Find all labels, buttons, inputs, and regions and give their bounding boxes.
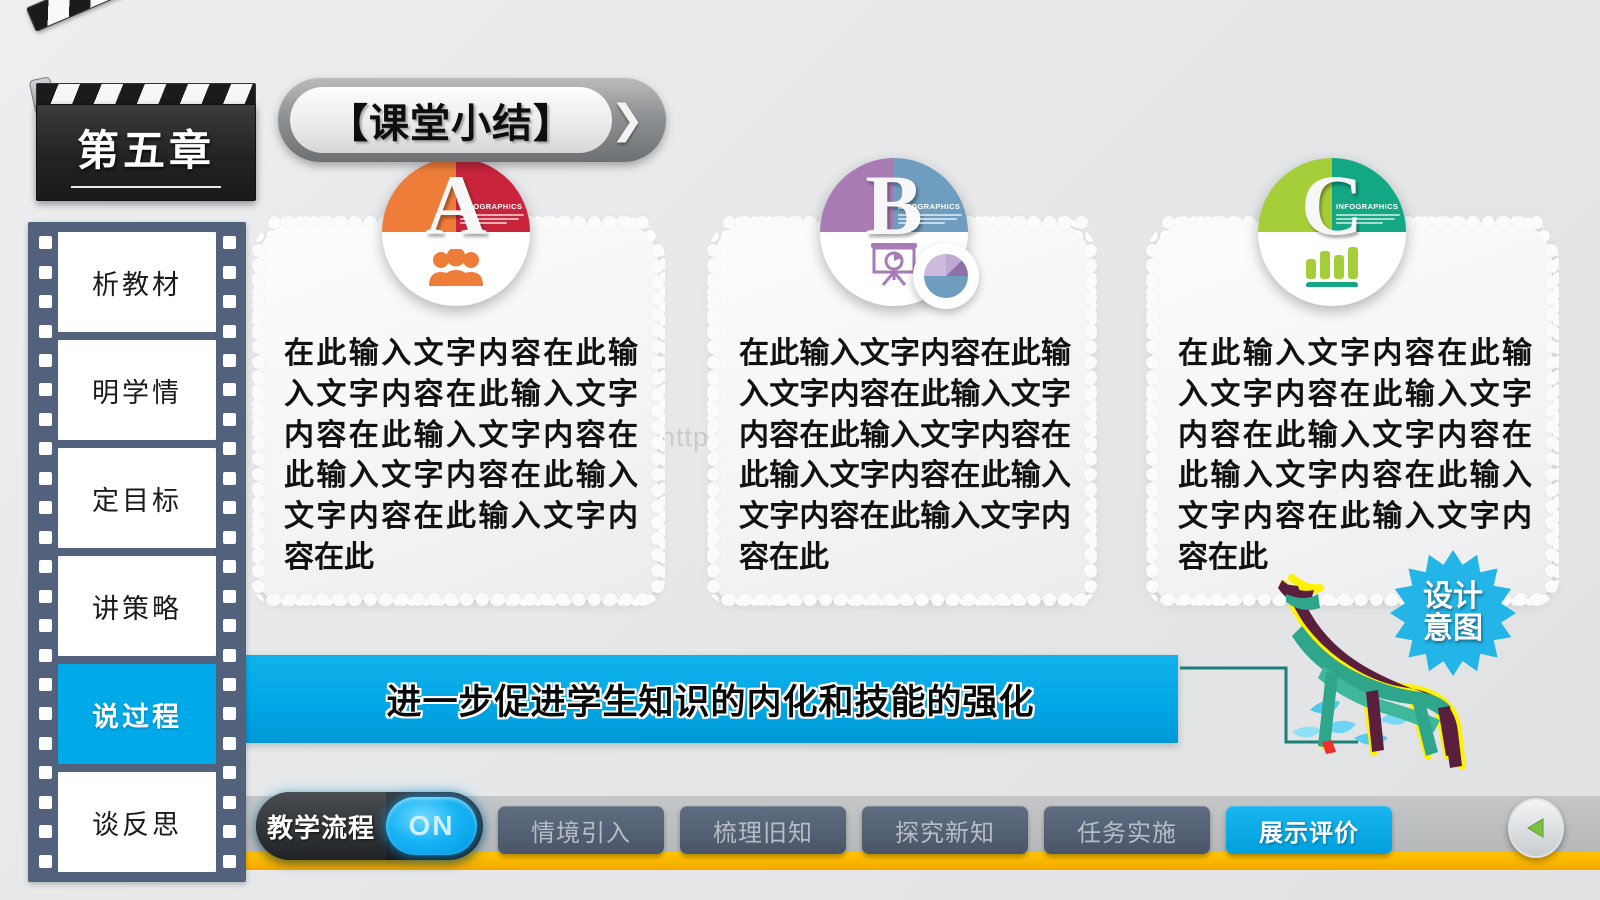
film-perforation xyxy=(39,590,52,603)
film-perforation xyxy=(39,472,52,485)
film-perforation xyxy=(223,766,236,779)
sidebar-item-1[interactable]: 析教材 xyxy=(58,232,216,332)
film-perforation xyxy=(223,295,236,308)
page-title: 【课堂小结】 xyxy=(328,91,574,149)
micro-text-lines xyxy=(1336,214,1400,224)
prev-button[interactable] xyxy=(1508,798,1564,858)
header-inner-pill: 【课堂小结】 xyxy=(290,87,612,153)
sidebar-item-6[interactable]: 谈反思 xyxy=(58,772,216,872)
pie-chart-icon xyxy=(921,251,971,301)
film-perforation xyxy=(39,266,52,279)
film-perforation xyxy=(223,619,236,632)
teaching-flow-state[interactable]: ON xyxy=(386,797,477,855)
flow-tab-3[interactable]: 探究新知 xyxy=(862,806,1028,854)
film-perforation xyxy=(223,678,236,691)
bar-chart-icon xyxy=(1258,243,1406,292)
film-perforation xyxy=(39,766,52,779)
micro-text-lines xyxy=(460,214,524,224)
film-perforation xyxy=(223,737,236,750)
film-perforation xyxy=(39,354,52,367)
chapter-title: 第五章 xyxy=(77,117,215,178)
card-body-text: 在此输入文字内容在此输入文字内容在此输入文字内容在此输入文字内容在此输入文字内容… xyxy=(1178,334,1532,579)
film-perforation xyxy=(223,383,236,396)
film-perforation xyxy=(39,707,52,720)
micro-text-lines xyxy=(898,214,962,224)
infographic-circle-a: AINFOGRAPHICS xyxy=(382,158,530,306)
clapperboard-arm xyxy=(26,0,237,32)
film-perforation xyxy=(39,325,52,338)
film-perforation xyxy=(223,354,236,367)
filmstrip-sidebar: 析教材明学情定目标讲策略说过程谈反思 xyxy=(28,222,246,882)
film-perforation xyxy=(223,325,236,338)
film-perforation xyxy=(39,531,52,544)
teaching-flow-toggle[interactable]: 教学流程 ON xyxy=(256,792,483,860)
card-body-text: 在此输入文字内容在此输入文字内容在此输入文字内容在此输入文字内容在此输入文字内容… xyxy=(739,334,1071,579)
film-perforation xyxy=(223,707,236,720)
film-perforation xyxy=(39,678,52,691)
film-perforation xyxy=(223,266,236,279)
flow-tab-2[interactable]: 梳理旧知 xyxy=(680,806,846,854)
people-group-icon xyxy=(382,249,530,292)
film-perforation xyxy=(39,737,52,750)
film-perforation xyxy=(223,472,236,485)
film-perforation xyxy=(39,825,52,838)
chevron-right-icon[interactable]: ❯ xyxy=(610,100,644,140)
film-perforation xyxy=(39,295,52,308)
sidebar-item-2[interactable]: 明学情 xyxy=(58,340,216,440)
film-perforation xyxy=(223,236,236,249)
watermark-text: http xyxy=(660,422,709,453)
clapperboard-stripe xyxy=(36,83,256,105)
film-perforation xyxy=(39,855,52,868)
chapter-title-rule xyxy=(71,186,221,188)
design-intent-badge: 设计 意图 xyxy=(1388,548,1518,678)
infographics-label: INFOGRAPHICS xyxy=(1336,202,1400,211)
header-pill: 【课堂小结】 ❯ xyxy=(278,78,666,162)
chapter-title-panel: 第五章 xyxy=(36,104,256,201)
film-perforation xyxy=(39,560,52,573)
film-perforation xyxy=(39,413,52,426)
flow-tab-4[interactable]: 任务实施 xyxy=(1044,806,1210,854)
film-perforations-left xyxy=(32,222,58,882)
film-perforations-right xyxy=(216,222,242,882)
film-perforation xyxy=(39,501,52,514)
film-perforation xyxy=(39,796,52,809)
film-perforation xyxy=(39,442,52,455)
sidebar-item-4[interactable]: 讲策略 xyxy=(58,556,216,656)
film-perforation xyxy=(223,501,236,514)
film-perforation xyxy=(39,619,52,632)
film-perforation xyxy=(223,649,236,662)
sidebar-item-3[interactable]: 定目标 xyxy=(58,448,216,548)
infographics-label: INFOGRAPHICS xyxy=(898,202,962,211)
film-perforation xyxy=(223,560,236,573)
clapperboard: 第五章 xyxy=(14,0,264,230)
film-perforation xyxy=(39,383,52,396)
summary-banner: 进一步促进学生知识的内化和技能的强化 xyxy=(243,655,1178,743)
film-perforation xyxy=(223,413,236,426)
film-perforation xyxy=(223,796,236,809)
film-perforation xyxy=(223,442,236,455)
film-perforation xyxy=(223,531,236,544)
slide-canvas: http 第五章 析教材明学情定目标讲策略说过程谈反思 【课堂小结】 ❯ 在此输… xyxy=(0,0,1600,900)
film-perforation xyxy=(223,825,236,838)
card-body-text: 在此输入文字内容在此输入文字内容在此输入文字内容在此输入文字内容在此输入文字内容… xyxy=(284,334,638,579)
infographic-circle-c: CINFOGRAPHICS xyxy=(1258,158,1406,306)
triangle-left-icon xyxy=(1525,816,1547,840)
film-perforation xyxy=(223,590,236,603)
teaching-flow-label: 教学流程 xyxy=(256,792,386,860)
sidebar-item-5[interactable]: 说过程 xyxy=(58,664,216,764)
sidebar-nav-list: 析教材明学情定目标讲策略说过程谈反思 xyxy=(58,232,216,872)
film-perforation xyxy=(39,649,52,662)
flow-tab-1[interactable]: 情境引入 xyxy=(498,806,664,854)
pie-chart-badge xyxy=(913,243,979,309)
design-intent-line1: 设计 xyxy=(1423,581,1483,613)
infographics-label: INFOGRAPHICS xyxy=(460,202,524,211)
design-intent-line2: 意图 xyxy=(1423,613,1483,645)
flow-tabs: 情境引入梳理旧知探究新知任务实施展示评价 xyxy=(498,806,1392,854)
film-perforation xyxy=(223,855,236,868)
film-perforation xyxy=(39,236,52,249)
summary-banner-text: 进一步促进学生知识的内化和技能的强化 xyxy=(386,674,1034,725)
design-intent-label: 设计 意图 xyxy=(1423,581,1483,645)
flow-tab-5[interactable]: 展示评价 xyxy=(1226,806,1392,854)
